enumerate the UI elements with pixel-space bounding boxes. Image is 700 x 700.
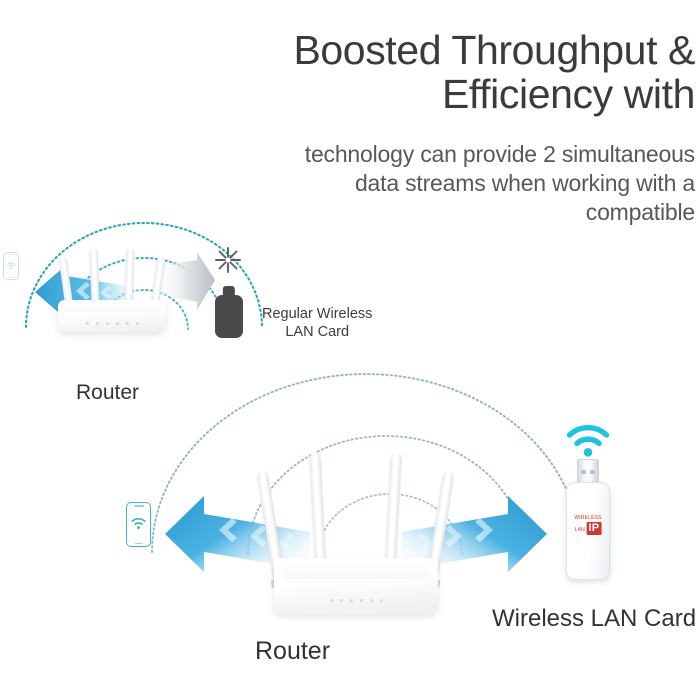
page-title-line-1: Boosted Throughput & — [293, 27, 695, 73]
phone-wifi-glyph — [6, 261, 16, 270]
router-led-row — [58, 322, 166, 325]
page-subtitle-line-1: technology can provide 2 simultaneous — [150, 140, 695, 169]
top-phone-icon — [3, 252, 19, 280]
top-router — [52, 246, 170, 332]
top-router-label: Router — [76, 381, 139, 405]
page-subtitle-line-2: data streams when working with a — [150, 169, 695, 198]
regular-card-label-line-1: Regular Wireless — [262, 305, 372, 323]
phone-earpiece — [134, 505, 144, 507]
dongle-brand-logo: WIRELESS LAN IP — [573, 516, 604, 535]
dongle-logo-mark: IP — [587, 522, 602, 535]
regular-wireless-lan-card-label: Regular Wireless LAN Card — [262, 305, 372, 341]
phone-wifi-glyph — [130, 516, 147, 530]
regular-wireless-lan-card-dongle — [215, 286, 243, 338]
page-title: Boosted Throughput & Efficiency with — [150, 28, 695, 117]
router-body — [274, 558, 438, 614]
product-infographic: Boosted Throughput & Efficiency with tec… — [0, 0, 700, 700]
usb-contact-left — [581, 470, 585, 474]
wireless-lan-card-dongle: WIRELESS LAN IP — [566, 459, 610, 580]
bottom-router — [260, 452, 450, 614]
router-led-row — [274, 599, 438, 602]
dongle-usb-connector — [577, 459, 599, 484]
router-body — [58, 300, 166, 332]
regular-card-label-line-2: LAN Card — [262, 323, 372, 341]
wifi-signal-icon — [565, 424, 611, 458]
dongle-shell — [215, 295, 243, 338]
bottom-router-label: Router — [255, 637, 330, 666]
wireless-lan-card-label: Wireless LAN Card — [492, 605, 696, 633]
page-title-line-2: Efficiency with — [150, 72, 695, 116]
bottom-phone-icon — [126, 502, 151, 547]
usb-contact-right — [590, 470, 594, 474]
signal-burst-icon — [213, 245, 243, 275]
